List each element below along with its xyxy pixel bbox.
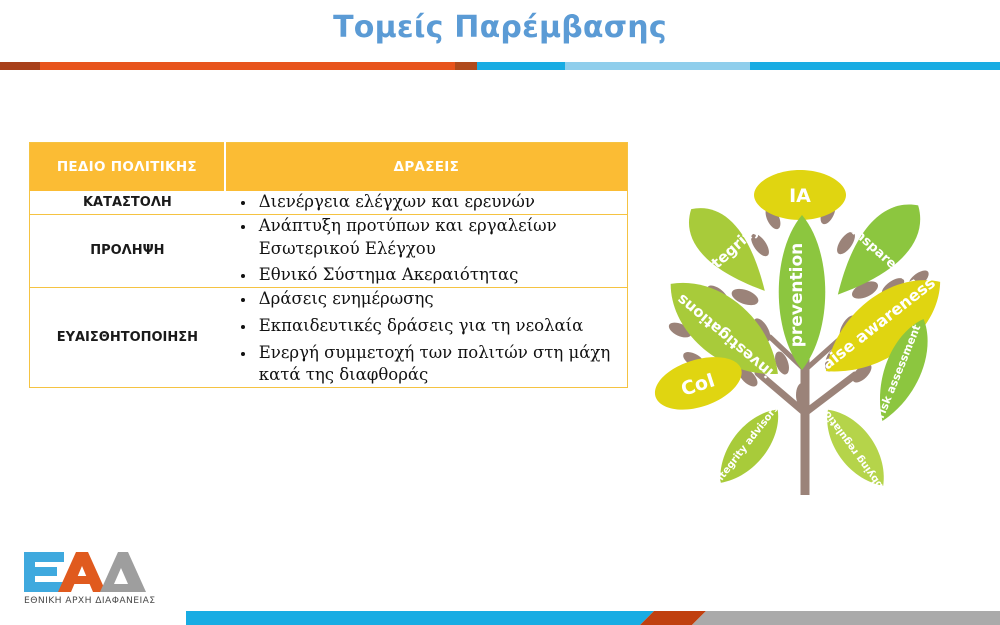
table-header: ΠΕΔΙΟ ΠΟΛΙΤΙΚΗΣ ΔΡΑΣΕΙΣ bbox=[30, 143, 628, 192]
list-item: Ενεργή συμμετοχή των πολιτών στη μάχη κα… bbox=[225, 342, 627, 388]
logo-caption: ΕΘΝΙΚΗ ΑΡΧΗ ΔΙΑΦΑΝΕΙΑΣ bbox=[24, 595, 204, 606]
top-bar-segment-orange bbox=[40, 62, 455, 70]
cell-actions: Διενέργεια ελέγχων και ερευνών bbox=[225, 191, 628, 214]
top-bar-segment-cyan-2 bbox=[750, 62, 1000, 70]
table-row: ΕΥΑΙΣΘΗΤΟΠΟΙΗΣΗ Δράσεις ενημέρωσης Εκπαι… bbox=[30, 288, 628, 388]
table-row: ΠΡΟΛΗΨΗ Ανάπτυξη προτύπων και εργαλείων … bbox=[30, 214, 628, 287]
top-bar-segment-light-blue bbox=[565, 62, 750, 70]
leaf-integrity-advisors: integrity advisors bbox=[704, 397, 793, 495]
cell-policy-field: ΚΑΤΑΣΤΟΛΗ bbox=[30, 191, 225, 214]
cell-policy-field: ΠΡΟΛΗΨΗ bbox=[30, 214, 225, 287]
ead-logo-icon bbox=[24, 551, 164, 593]
table-body: ΚΑΤΑΣΤΟΛΗ Διενέργεια ελέγχων και ερευνών… bbox=[30, 191, 628, 388]
page-title: Τομείς Παρέμβασης bbox=[0, 10, 1000, 45]
list-item: Ανάπτυξη προτύπων και εργαλείων Εσωτερικ… bbox=[225, 215, 627, 261]
leaf-label-prevention: prevention bbox=[787, 243, 807, 348]
leaf-label-integrity-advisors: integrity advisors bbox=[711, 403, 781, 489]
cell-policy-field: ΕΥΑΙΣΘΗΤΟΠΟΙΗΣΗ bbox=[30, 288, 225, 388]
integrity-tree-graphic: IA integrity transparency prevention rai… bbox=[650, 155, 960, 495]
leaf-raise-awareness: raise awareness bbox=[803, 259, 958, 398]
list-item: Διενέργεια ελέγχων και ερευνών bbox=[225, 191, 627, 214]
top-bar-segment-dark-orange-2 bbox=[455, 62, 477, 70]
bottom-bar-segment-gray bbox=[692, 611, 1000, 625]
column-header-policy-field: ΠΕΔΙΟ ΠΟΛΙΤΙΚΗΣ bbox=[30, 143, 225, 192]
policy-actions-table: ΠΕΔΙΟ ΠΟΛΙΤΙΚΗΣ ΔΡΑΣΕΙΣ ΚΑΤΑΣΤΟΛΗ Διενέρ… bbox=[29, 142, 628, 388]
leaf-prevention: prevention bbox=[779, 215, 826, 370]
organization-logo: ΕΘΝΙΚΗ ΑΡΧΗ ΔΙΑΦΑΝΕΙΑΣ bbox=[24, 551, 204, 606]
top-divider-bar bbox=[0, 62, 1000, 70]
list-item: Εκπαιδευτικές δράσεις για τη νεολαία bbox=[225, 315, 627, 338]
list-item: Δράσεις ενημέρωσης bbox=[225, 288, 627, 311]
table-header-row: ΠΕΔΙΟ ΠΟΛΙΤΙΚΗΣ ΔΡΑΣΕΙΣ bbox=[30, 143, 628, 192]
action-bullet-list: Ανάπτυξη προτύπων και εργαλείων Εσωτερικ… bbox=[225, 215, 627, 287]
leaf-label-ia: IA bbox=[789, 185, 811, 207]
top-bar-segment-cyan bbox=[477, 62, 565, 70]
bottom-bar-segment-cyan bbox=[186, 611, 654, 625]
cell-actions: Ανάπτυξη προτύπων και εργαλείων Εσωτερικ… bbox=[225, 214, 628, 287]
column-header-actions: ΔΡΑΣΕΙΣ bbox=[225, 143, 628, 192]
top-bar-segment-dark-orange bbox=[0, 62, 40, 70]
action-bullet-list: Δράσεις ενημέρωσης Εκπαιδευτικές δράσεις… bbox=[225, 288, 627, 387]
action-bullet-list: Διενέργεια ελέγχων και ερευνών bbox=[225, 191, 627, 214]
table-row: ΚΑΤΑΣΤΟΛΗ Διενέργεια ελέγχων και ερευνών bbox=[30, 191, 628, 214]
cell-actions: Δράσεις ενημέρωσης Εκπαιδευτικές δράσεις… bbox=[225, 288, 628, 388]
bottom-divider-bar bbox=[0, 611, 1000, 625]
list-item: Εθνικό Σύστημα Ακεραιότητας bbox=[225, 264, 627, 287]
